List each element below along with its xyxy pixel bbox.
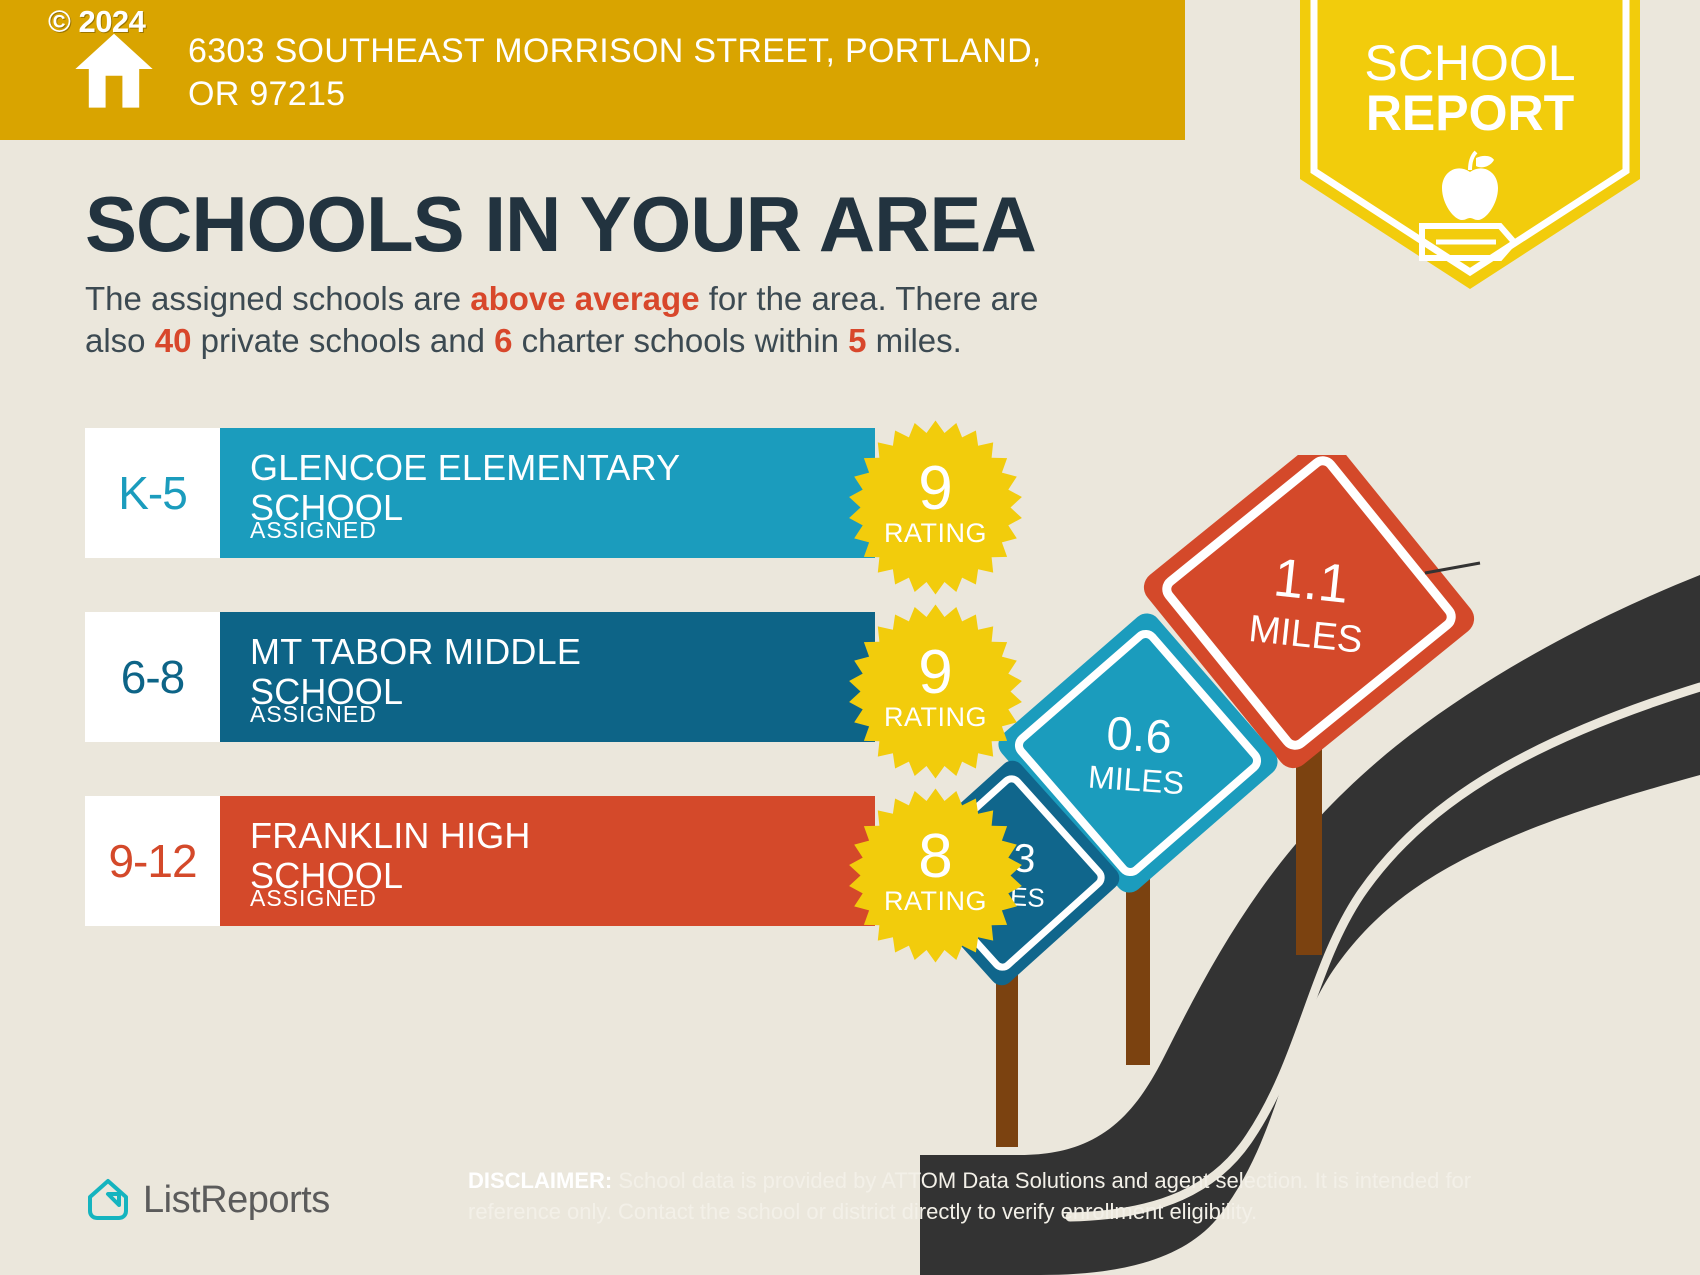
listreports-label: ListReports: [143, 1179, 330, 1222]
summary-text: The assigned schools are above average f…: [85, 278, 1095, 362]
rating-value: 8: [918, 828, 952, 887]
rating-badge: 9 RATING: [848, 420, 1023, 595]
rating-badge: 9 RATING: [848, 604, 1023, 779]
school-row[interactable]: K-5 GLENCOE ELEMENTARY SCHOOL ASSIGNED 9…: [85, 428, 875, 558]
school-report-badge: SCHOOL REPORT: [1300, 0, 1640, 294]
badge-line2: REPORT: [1366, 85, 1574, 141]
school-bar: MT TABOR MIDDLE SCHOOL ASSIGNED: [220, 612, 875, 742]
listreports-house-icon: [85, 1177, 131, 1223]
rating-label: RATING: [884, 702, 987, 733]
school-name-line1: MT TABOR MIDDLE: [250, 632, 851, 672]
school-bar: FRANKLIN HIGH SCHOOL ASSIGNED: [220, 796, 875, 926]
rating-badge: 8 RATING: [848, 788, 1023, 963]
summary-part-4: charter schools within: [512, 322, 848, 359]
school-report-infographic: 6303 SOUTHEAST MORRISON STREET, PORTLAND…: [0, 0, 1700, 1275]
grade-range-label: K-5: [118, 466, 187, 520]
assigned-label: ASSIGNED: [250, 885, 377, 912]
school-bar: GLENCOE ELEMENTARY SCHOOL ASSIGNED: [220, 428, 875, 558]
summary-highlight-radius: 5: [848, 322, 866, 359]
summary-part-1: The assigned schools are: [85, 280, 470, 317]
summary-highlight-charter-count: 6: [494, 322, 512, 359]
school-row[interactable]: 9-12 FRANKLIN HIGH SCHOOL ASSIGNED 8 RAT…: [85, 796, 875, 926]
disclaimer-label: DISCLAIMER:: [468, 1168, 612, 1193]
badge-line1: SCHOOL: [1364, 35, 1575, 91]
grade-range-label: 9-12: [108, 834, 196, 888]
disclaimer: DISCLAIMER: School data is provided by A…: [468, 1165, 1478, 1227]
summary-part-5: miles.: [866, 322, 961, 359]
school-name-line1: GLENCOE ELEMENTARY: [250, 448, 851, 488]
school-list: K-5 GLENCOE ELEMENTARY SCHOOL ASSIGNED 9…: [85, 428, 875, 980]
grade-range-badge: 9-12: [85, 796, 220, 926]
summary-highlight-private-count: 40: [155, 322, 192, 359]
property-address: 6303 SOUTHEAST MORRISON STREET, PORTLAND…: [188, 30, 1088, 116]
rating-label: RATING: [884, 518, 987, 549]
distance-unit: MILES: [1087, 759, 1185, 802]
grade-range-badge: 6-8: [85, 612, 220, 742]
copyright-label: © 2024: [48, 4, 145, 40]
distance-value: 1.1: [1271, 547, 1352, 615]
summary-highlight-rating: above average: [470, 280, 699, 317]
rating-value: 9: [918, 644, 952, 703]
school-name-line1: FRANKLIN HIGH: [250, 816, 851, 856]
grade-range-badge: K-5: [85, 428, 220, 558]
disclaimer-text: School data is provided by ATTOM Data So…: [468, 1168, 1471, 1224]
school-row[interactable]: 6-8 MT TABOR MIDDLE SCHOOL ASSIGNED 9 RA…: [85, 612, 875, 742]
grade-range-label: 6-8: [121, 650, 184, 704]
assigned-label: ASSIGNED: [250, 517, 377, 544]
rating-value: 9: [918, 460, 952, 519]
rating-label: RATING: [884, 886, 987, 917]
listreports-logo[interactable]: ListReports: [85, 1177, 330, 1223]
address-header: 6303 SOUTHEAST MORRISON STREET, PORTLAND…: [0, 0, 1185, 140]
page-title: SCHOOLS IN YOUR AREA: [85, 185, 1036, 263]
summary-part-3: private schools and: [191, 322, 494, 359]
road-scene: 1.1 MILES 0.6 MILES: [920, 455, 1700, 1275]
distance-value: 0.6: [1105, 706, 1174, 763]
assigned-label: ASSIGNED: [250, 701, 377, 728]
